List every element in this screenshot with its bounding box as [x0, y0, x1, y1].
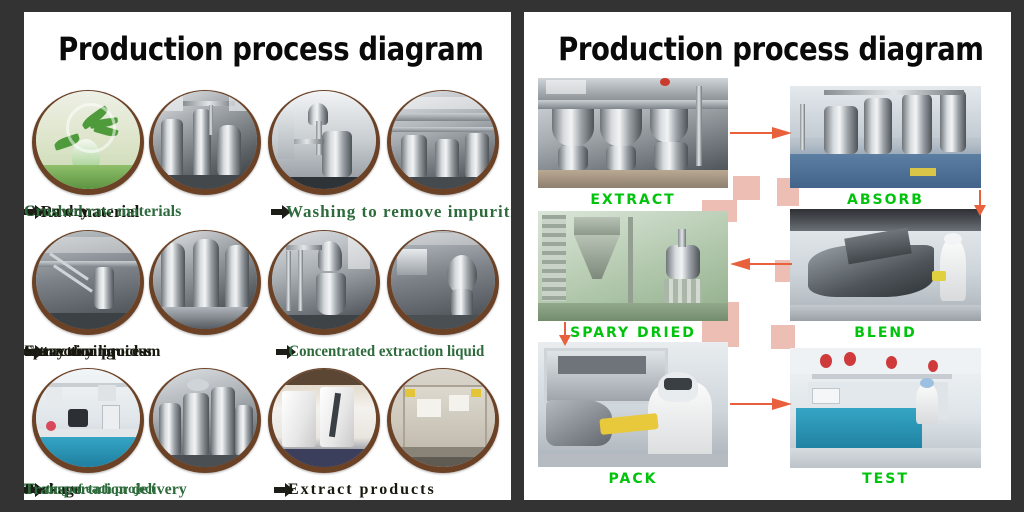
- flow-arrow-right-icon: [730, 397, 792, 411]
- caption-blend: BLEND: [790, 325, 981, 341]
- caption-extract: EXTRACT: [538, 192, 728, 208]
- caption-absorb: ABSORB: [790, 192, 981, 208]
- washing-photo: [153, 91, 257, 189]
- spray-dried-photo[interactable]: [538, 211, 728, 321]
- process-step-washing[interactable]: [149, 90, 261, 198]
- blend-photo[interactable]: [790, 209, 981, 321]
- step-label: Transportation delivery: [24, 478, 187, 500]
- screenshot-root: Production process diagram: [0, 0, 1024, 512]
- step-image-disc: [268, 90, 380, 195]
- step-image-disc: [32, 368, 144, 473]
- process-step-spray-drying[interactable]: [387, 230, 499, 338]
- process-row-2-labels: Extraction process Concentrated extracti…: [24, 340, 511, 366]
- flow-arrow-right-icon: [730, 126, 792, 140]
- transportation-photo: [391, 369, 495, 467]
- evaporator-photo: [272, 231, 376, 329]
- concentration-photo: [153, 231, 257, 329]
- step-image-disc: [149, 90, 261, 195]
- process-step-oven-dry[interactable]: [268, 90, 380, 198]
- process-row-3-labels: Testing of each project Extract products…: [24, 478, 511, 500]
- step-image-disc: [149, 230, 261, 335]
- step-image-disc: [32, 230, 144, 335]
- process-step-extraction-process[interactable]: [32, 230, 144, 338]
- process-row-2: Extraction process Concentrated extracti…: [24, 230, 511, 366]
- oven-dry-photo: [272, 91, 376, 189]
- testing-photo: [36, 369, 140, 467]
- process-step-concentrated-extraction-liquid[interactable]: [149, 230, 261, 338]
- absorb-photo[interactable]: [790, 86, 981, 188]
- step-label: Spray drying: [24, 340, 114, 364]
- package-photo: [272, 369, 376, 467]
- process-row-1: Raw material Washing to remove impuritie…: [24, 90, 511, 226]
- extract-photo[interactable]: [538, 78, 728, 188]
- step-image-disc: [32, 90, 144, 195]
- caption-test: TEST: [790, 471, 981, 487]
- extract-products-photo: [153, 369, 257, 467]
- caption-pack: PACK: [538, 471, 728, 487]
- process-row-1-labels: Raw material Washing to remove impuritie…: [24, 200, 511, 226]
- step-label: Crushed raw materials: [24, 200, 181, 224]
- left-production-diagram-panel: Production process diagram: [24, 12, 511, 500]
- left-panel-title: Production process diagram: [58, 30, 477, 68]
- process-step-raw-material[interactable]: [32, 90, 144, 198]
- step-image-disc: [387, 368, 499, 473]
- process-step-extract-products[interactable]: [149, 368, 261, 476]
- step-label: Concentrated extraction liquid: [288, 340, 403, 364]
- process-step-transportation[interactable]: [387, 368, 499, 476]
- step-label: Extract products: [288, 478, 392, 500]
- step-image-disc: [387, 90, 499, 195]
- step-image-disc: [149, 368, 261, 473]
- step-label: Washing to remove impurities: [286, 200, 386, 224]
- right-panel-title: Production process diagram: [558, 30, 977, 68]
- extraction-process-photo: [36, 231, 140, 329]
- process-step-package[interactable]: [268, 368, 380, 476]
- process-row-3: Testing of each project Extract products…: [24, 368, 511, 500]
- right-production-diagram-panel: Production process diagram: [524, 12, 1011, 500]
- spray-drying-photo: [391, 231, 495, 329]
- accent-block: [733, 176, 760, 200]
- flow-arrow-down-icon: [973, 190, 987, 216]
- pack-photo[interactable]: [538, 342, 728, 467]
- flow-arrow-left-icon: [730, 257, 792, 271]
- step-image-disc: [268, 230, 380, 335]
- crushing-photo: [391, 91, 495, 189]
- process-step-testing[interactable]: [32, 368, 144, 476]
- test-photo[interactable]: [790, 348, 981, 468]
- flow-arrow-down-icon: [558, 322, 572, 346]
- process-step-crushed-raw-materials[interactable]: [387, 90, 499, 198]
- raw-material-photo: [36, 91, 140, 189]
- step-image-disc: [387, 230, 499, 335]
- process-step-extractum-liquidum[interactable]: [268, 230, 380, 338]
- step-image-disc: [268, 368, 380, 473]
